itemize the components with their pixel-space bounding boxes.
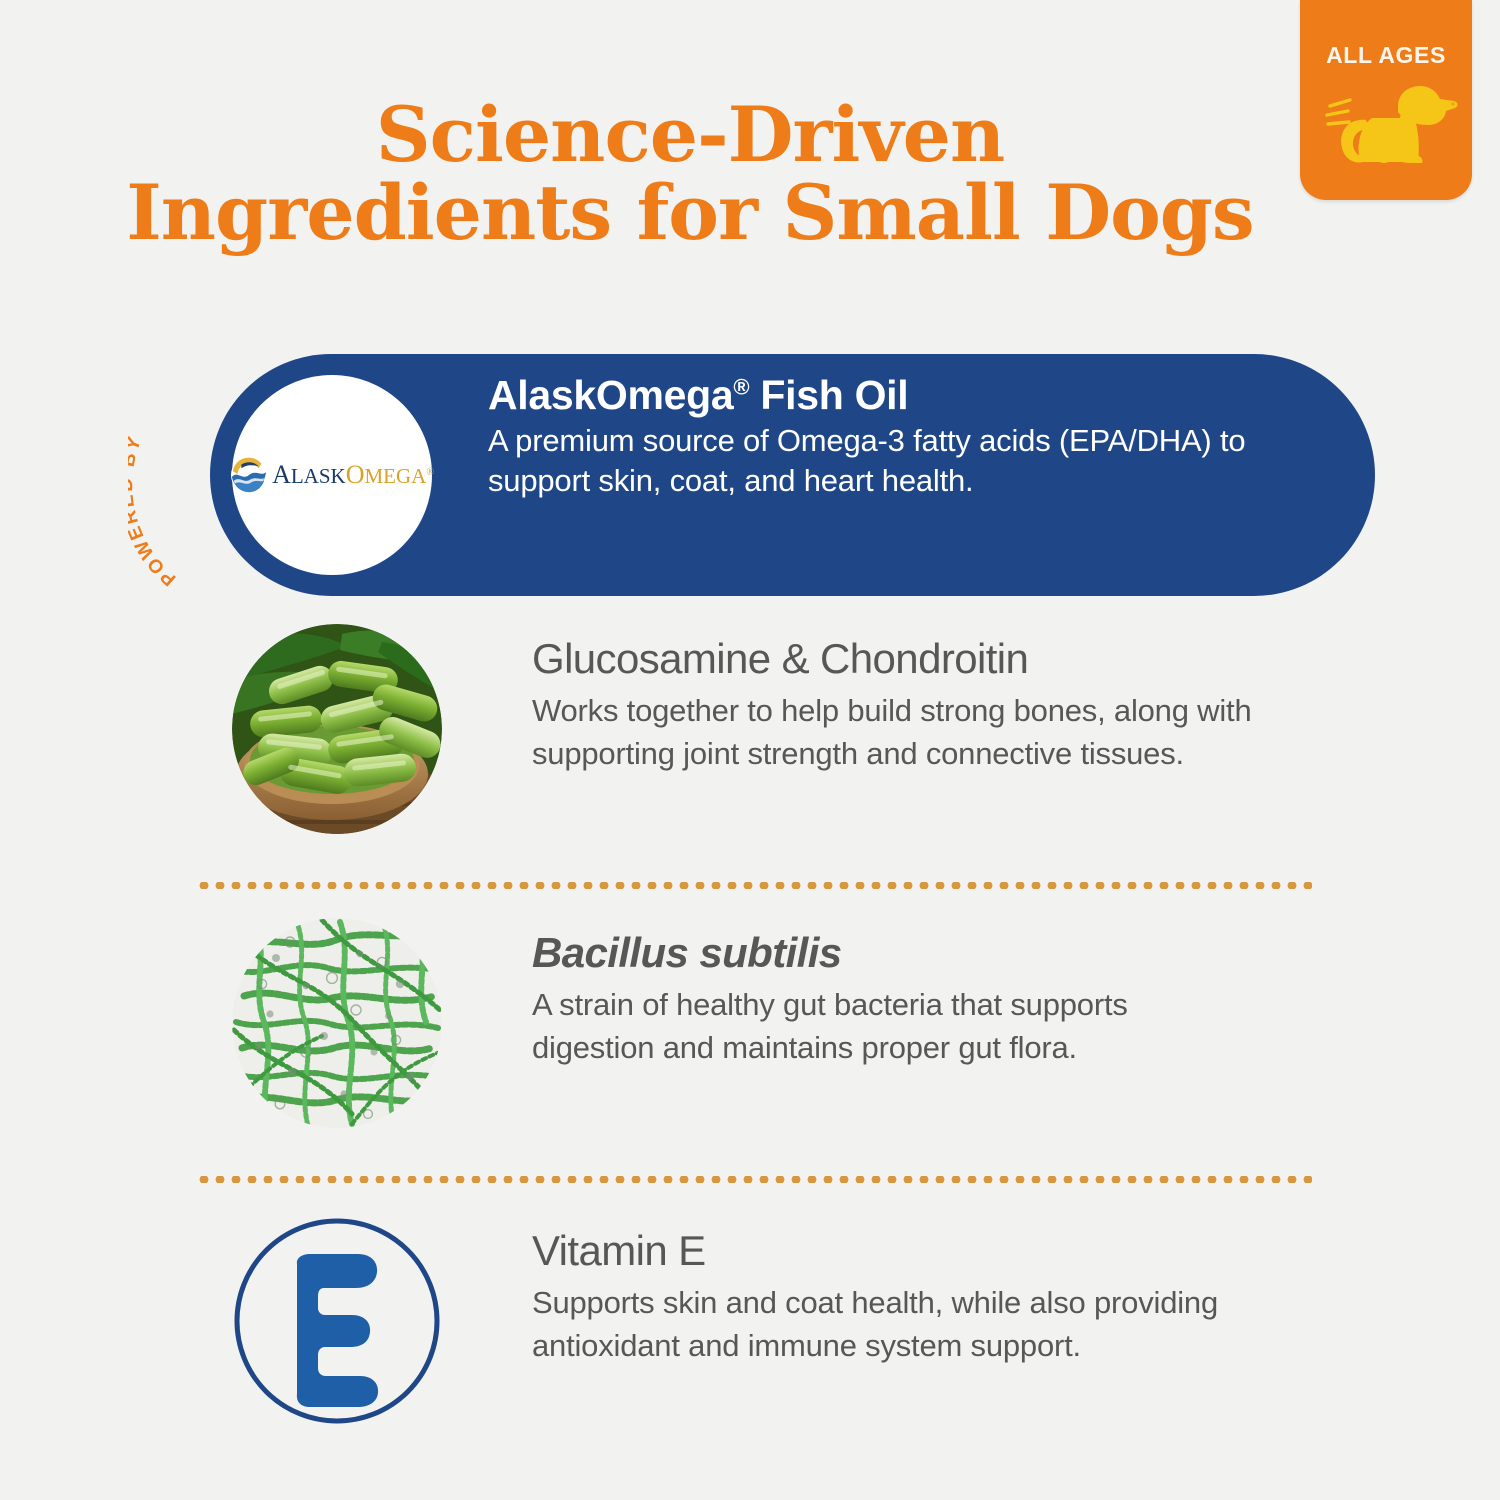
bacillus-subtilis-microscope-image bbox=[232, 918, 442, 1128]
page-title: Science-Driven Ingredients for Small Dog… bbox=[0, 96, 1380, 253]
ingredient-row-glucosamine: Glucosamine & Chondroitin Works together… bbox=[232, 624, 1412, 834]
green-capsules-in-wooden-bowl-image bbox=[232, 624, 442, 834]
ingredient-row-bacillus: Bacillus subtilis A strain of healthy gu… bbox=[232, 918, 1412, 1128]
vitamin-e-letter-icon bbox=[232, 1216, 442, 1426]
vitamin-e-text-block: Vitamin E Supports skin and coat health,… bbox=[532, 1216, 1252, 1367]
section-divider bbox=[196, 1176, 1312, 1183]
vitamin-e-icon-wrap bbox=[232, 1216, 442, 1426]
powered-by-text: POWERED BY bbox=[128, 432, 180, 589]
alaskomega-logo-badge: ALASKOMEGA® bbox=[232, 375, 432, 575]
logo-word-alask: ALASK bbox=[272, 464, 346, 488]
svg-text:POWERED BY: POWERED BY bbox=[128, 432, 180, 589]
logo-word-omega: OMEGA bbox=[346, 464, 427, 488]
fish-oil-description: A premium source of Omega-3 fatty acids … bbox=[488, 421, 1338, 500]
alaskomega-logo: ALASKOMEGA® bbox=[230, 456, 434, 494]
fish-oil-registered-mark: ® bbox=[733, 374, 749, 399]
alaskomega-wave-emblem-icon bbox=[230, 456, 268, 494]
section-divider bbox=[196, 882, 1312, 889]
vitamin-e-description: Supports skin and coat health, while als… bbox=[532, 1282, 1252, 1367]
glucosamine-heading: Glucosamine & Chondroitin bbox=[532, 636, 1252, 682]
logo-registered-mark: ® bbox=[426, 467, 434, 478]
page-title-line1: Science-Driven bbox=[0, 96, 1380, 174]
bacillus-text-block: Bacillus subtilis A strain of healthy gu… bbox=[532, 918, 1252, 1069]
bacteria-microscope-photo bbox=[232, 918, 442, 1128]
fish-oil-text-block: AlaskOmega® Fish Oil A premium source of… bbox=[488, 372, 1338, 500]
vitamin-e-heading: Vitamin E bbox=[532, 1228, 1252, 1274]
page-title-line2: Ingredients for Small Dogs bbox=[0, 174, 1380, 252]
ingredient-row-vitamin-e: Vitamin E Supports skin and coat health,… bbox=[232, 1216, 1412, 1426]
fish-oil-brand: AlaskOmega bbox=[488, 372, 733, 418]
glucosamine-description: Works together to help build strong bone… bbox=[532, 690, 1252, 775]
fish-oil-heading: AlaskOmega® Fish Oil bbox=[488, 372, 1338, 419]
green-capsules-photo bbox=[232, 624, 442, 834]
glucosamine-text-block: Glucosamine & Chondroitin Works together… bbox=[532, 624, 1252, 775]
bacillus-description: A strain of healthy gut bacteria that su… bbox=[532, 984, 1252, 1069]
bacillus-heading: Bacillus subtilis bbox=[532, 930, 1252, 976]
infographic-page: ALL AGES bbox=[0, 0, 1500, 1500]
alaskomega-wordmark: ALASKOMEGA® bbox=[272, 462, 434, 488]
alaskomega-fish-oil-card: ALASKOMEGA® AlaskOmega® Fish Oil A premi… bbox=[210, 354, 1375, 596]
fish-oil-heading-rest: Fish Oil bbox=[749, 372, 908, 418]
